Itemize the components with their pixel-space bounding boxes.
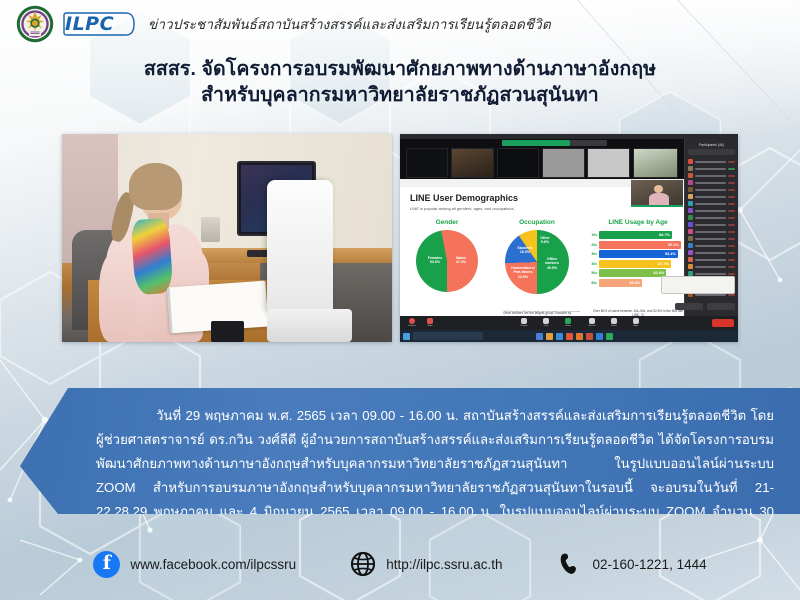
title-line-1: สสสร. จัดโครงการอบรมพัฒนาศักยภาพทางด้านภ… [0, 56, 800, 82]
bar-30s: 93.4% [599, 250, 678, 258]
bar-axis-label: 60s [590, 281, 599, 285]
bar-value-10s: 88.7% [659, 233, 670, 237]
taskbar-app-icon[interactable] [576, 333, 583, 340]
bar-axis-label: 50s [590, 271, 599, 275]
participant-row[interactable] [685, 242, 738, 249]
footer-phone[interactable]: 02-160-1221, 1444 [557, 551, 707, 577]
zoom-reactions-button[interactable]: React [608, 318, 620, 328]
bar-axis-label: 40s [590, 262, 599, 266]
zoom-mute-all-button[interactable] [707, 303, 735, 310]
bar-50s: 82.6% [599, 269, 666, 277]
participant-row[interactable] [685, 263, 738, 270]
participant-row[interactable] [685, 235, 738, 242]
taskbar-app-icon[interactable] [566, 333, 573, 340]
zoom-participants-panel: Participants (46) [684, 139, 738, 316]
zoom-chat-button[interactable]: Chat [540, 318, 552, 328]
chart-age-title: LINE Usage by Age [590, 219, 686, 226]
participant-row[interactable] [685, 249, 738, 256]
chart-occupation-slice-homemakers: Homemakers/Part-timers24.5% [509, 266, 537, 279]
footer-facebook-label: www.facebook.com/ilpcssru [130, 557, 296, 572]
footer-website[interactable]: http://ilpc.ssru.ac.th [350, 551, 502, 577]
taskbar-search-input[interactable] [413, 332, 483, 340]
bar-row: 30s93.4% [590, 250, 686, 258]
slide-source-footnote: *1 *2 Survey data on LINE users by gende… [426, 311, 659, 314]
bar-value-30s: 93.4% [665, 252, 676, 256]
chart-occupation: Occupation Officeworkers49.9% Homemakers… [492, 219, 582, 294]
facebook-icon [93, 551, 120, 578]
participant-row[interactable] [685, 158, 738, 165]
bar-60s: 52.6% [599, 279, 642, 287]
page-title: สสสร. จัดโครงการอบรมพัฒนาศักยภาพทางด้านภ… [0, 56, 800, 108]
title-line-2: สำหรับบุคลากรมหาวิทยาลัยราชภัฏสวนสุนันทา [0, 82, 800, 108]
zoom-shared-slide: LINE User Demographics LINE is popular a… [400, 179, 684, 316]
zoom-participants-button[interactable]: People [518, 318, 530, 328]
participant-row[interactable] [685, 193, 738, 200]
zoom-invite-button[interactable] [675, 303, 703, 310]
footer-facebook[interactable]: www.facebook.com/ilpcssru [93, 551, 296, 578]
bar-10s: 88.7% [599, 231, 672, 239]
contact-footer: www.facebook.com/ilpcssru http://ilpc.ss… [0, 528, 800, 600]
announcement-text: วันที่ 29 พฤษภาคม พ.ศ. 2565 เวลา 09.00 -… [96, 404, 774, 548]
zoom-record-button[interactable]: Record [586, 318, 598, 328]
zoom-video-tile[interactable] [587, 148, 630, 178]
taskbar-app-icon[interactable] [596, 333, 603, 340]
chart-gender: Gender Females53.0% Males47.0% [408, 219, 486, 292]
taskbar-zoom-icon[interactable] [606, 333, 613, 340]
chart-occupation-title: Occupation [492, 219, 582, 226]
participant-row[interactable] [685, 179, 738, 186]
chart-occupation-slice-other: Other9.6% [537, 236, 553, 245]
windows-taskbar [400, 330, 738, 342]
bar-value-60s: 52.6% [629, 281, 640, 285]
zoom-toolbar: Unmute Video People Chat Share Record Re… [400, 316, 738, 330]
zoom-video-tile[interactable] [406, 148, 449, 178]
zoom-video-tile[interactable] [633, 148, 678, 178]
header-tagline: ข่าวประชาสัมพันธ์สถาบันสร้างสรรค์และส่งเ… [148, 13, 551, 35]
participant-row[interactable] [685, 221, 738, 228]
zoom-share-banner [502, 140, 570, 146]
chart-gender-title: Gender [408, 219, 486, 226]
globe-icon [350, 551, 376, 577]
zoom-mute-button[interactable]: Unmute [406, 318, 418, 328]
participant-row[interactable] [685, 228, 738, 235]
zoom-video-strip [400, 139, 684, 179]
participant-row[interactable] [685, 186, 738, 193]
footer-phone-label: 02-160-1221, 1444 [593, 557, 707, 572]
taskbar-app-icon[interactable] [586, 333, 593, 340]
photo-participant-at-desk [62, 134, 392, 342]
chart-occupation-slice-office: Officeworkers49.9% [539, 257, 565, 270]
chart-gender-slice-females: Females53.0% [422, 256, 448, 265]
slide-subtitle: LINE is popular among all genders, ages,… [410, 206, 515, 211]
footer-website-label: http://ilpc.ssru.ac.th [386, 557, 502, 572]
site-header: ILPC ข่าวประชาสัมพันธ์สถาบันสร้างสรรค์แล… [0, 0, 800, 48]
participant-row[interactable] [685, 214, 738, 221]
zoom-apps-button[interactable]: Apps [630, 318, 642, 328]
participant-row[interactable] [685, 200, 738, 207]
photo-zoom-meeting-screenshot: LINE User Demographics LINE is popular a… [400, 134, 738, 342]
bar-20s: 96.1% [599, 241, 681, 249]
taskbar-app-icon[interactable] [556, 333, 563, 340]
bar-value-50s: 82.6% [653, 271, 664, 275]
zoom-share-screen-button[interactable]: Share [562, 318, 574, 328]
bar-40s: 87.7% [599, 260, 671, 268]
windows-start-icon[interactable] [403, 333, 410, 340]
participant-row[interactable] [685, 256, 738, 263]
zoom-video-button[interactable]: Video [424, 318, 436, 328]
slide-title: LINE User Demographics [410, 193, 518, 203]
participant-row[interactable] [685, 165, 738, 172]
phone-icon [557, 551, 583, 577]
zoom-video-tile[interactable] [451, 148, 494, 178]
bar-value-40s: 87.7% [658, 262, 669, 266]
chart-gender-slice-males: Males47.0% [449, 256, 473, 265]
ilpc-brand-logo: ILPC [62, 12, 136, 36]
university-seal-icon [16, 5, 54, 43]
chart-occupation-slice-students: Students16.0% [515, 246, 535, 255]
zoom-video-tile[interactable] [497, 148, 540, 178]
taskbar-app-icon[interactable] [536, 333, 543, 340]
bar-row: 10s88.7% [590, 231, 686, 239]
zoom-space-bar-tooltip [661, 276, 735, 294]
zoom-end-meeting-button[interactable] [712, 319, 734, 327]
participant-row[interactable] [685, 172, 738, 179]
taskbar-app-icon[interactable] [546, 333, 553, 340]
announcement-ribbon: วันที่ 29 พฤษภาคม พ.ศ. 2565 เวลา 09.00 -… [0, 388, 800, 514]
poster-canvas: ILPC ข่าวประชาสัมพันธ์สถาบันสร้างสรรค์แล… [0, 0, 800, 600]
bar-value-20s: 96.1% [668, 243, 679, 247]
participant-row[interactable] [685, 207, 738, 214]
zoom-stop-share-button[interactable] [570, 140, 607, 146]
bar-axis-label: 20s [590, 243, 599, 247]
photo-row: LINE User Demographics LINE is popular a… [0, 134, 800, 344]
bar-axis-label: 10s [590, 233, 599, 237]
bar-axis-label: 30s [590, 252, 599, 256]
zoom-self-video-thumbnail[interactable] [631, 180, 683, 207]
zoom-participant-search-input[interactable] [688, 149, 735, 155]
bar-row: 40s87.7% [590, 260, 686, 268]
zoom-participants-title: Participants (46) [685, 139, 738, 149]
bar-row: 20s96.1% [590, 241, 686, 249]
zoom-video-tile[interactable] [542, 148, 585, 178]
